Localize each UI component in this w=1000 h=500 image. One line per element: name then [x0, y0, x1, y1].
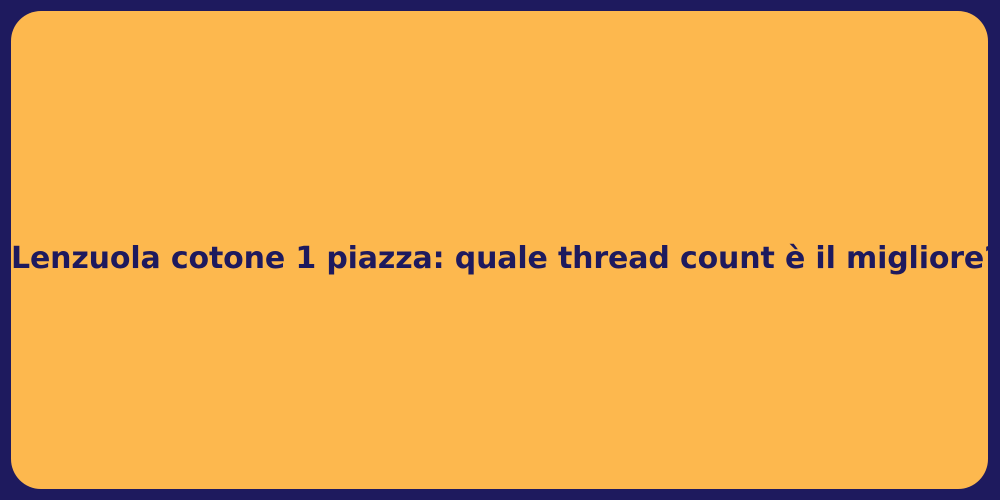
card-frame: Lenzuola cotone 1 piazza: quale thread c…: [0, 0, 1000, 500]
card-panel: Lenzuola cotone 1 piazza: quale thread c…: [11, 11, 988, 489]
page-title: Lenzuola cotone 1 piazza: quale thread c…: [11, 240, 988, 278]
